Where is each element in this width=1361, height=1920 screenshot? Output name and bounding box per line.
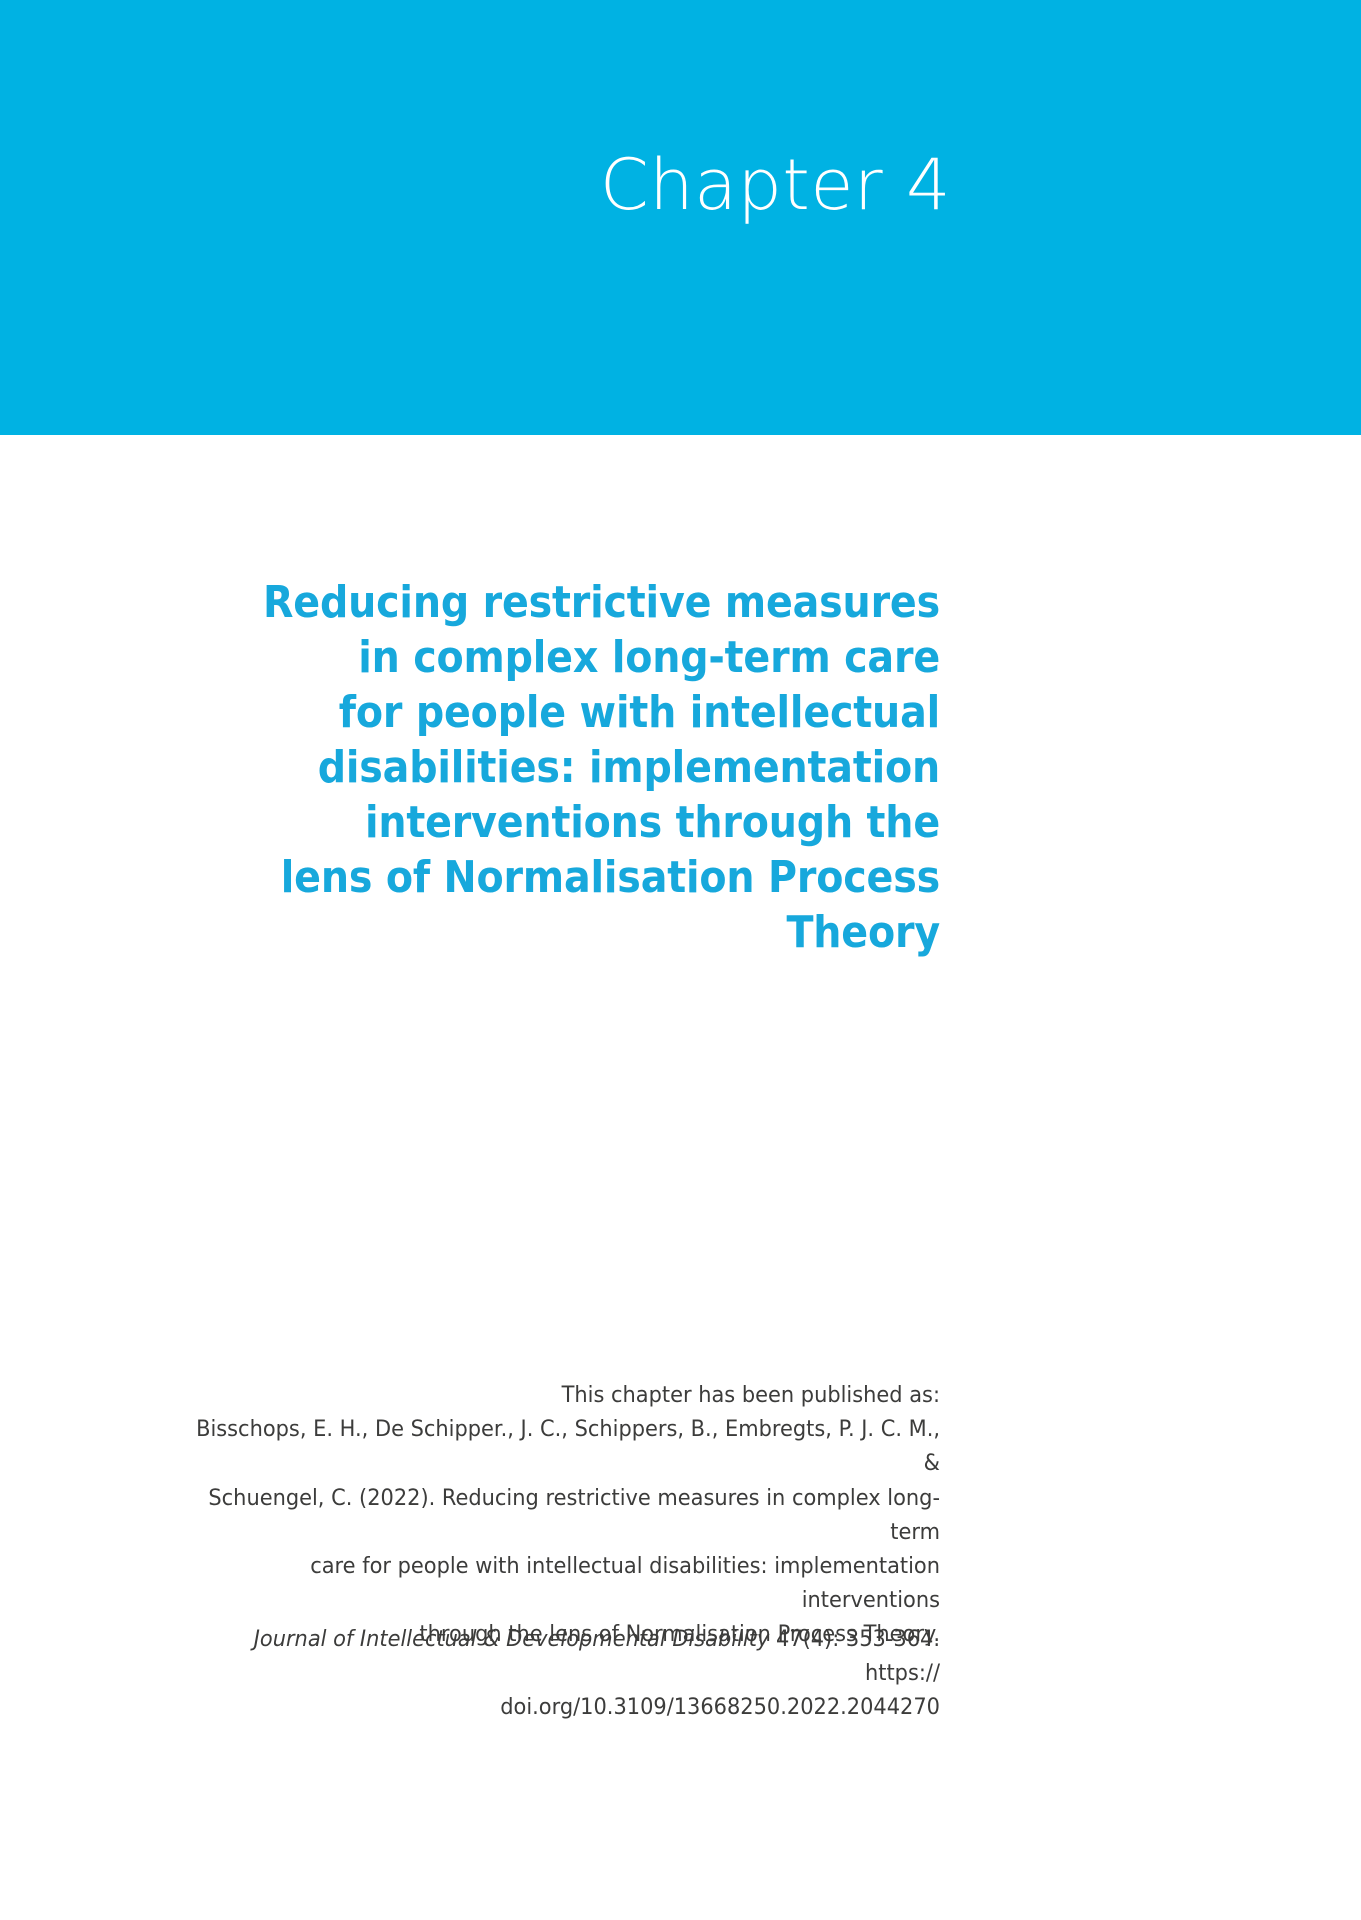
chapter-number-label: Chapter 4 — [51, 150, 951, 220]
chapter-title: Reducing restrictive measures in complex… — [180, 575, 1351, 960]
chapter-header-band: Chapter 4 — [0, 0, 1361, 435]
chapter-title-line-3: for people with intellectual — [256, 685, 940, 740]
publication-credit: This chapter has been published as: Biss… — [120, 1378, 1351, 1652]
publication-credit-line-3: Schuengel, C. (2022). Reducing restricti… — [177, 1481, 940, 1549]
chapter-title-line-7: Theory — [256, 905, 940, 960]
chapter-title-line-4: disabilities: implementation — [256, 740, 940, 795]
chapter-title-line-2: in complex long-term care — [256, 630, 940, 685]
chapter-title-line-1: Reducing restrictive measures — [256, 575, 940, 630]
chapter-title-line-5: interventions through the — [256, 795, 940, 850]
chapter-title-line-6: lens of Normalisation Process — [256, 850, 940, 905]
journal-citation-line-1: Journal of Intellectual & Developmental … — [177, 1622, 940, 1690]
publication-credit-line-1: This chapter has been published as: — [177, 1378, 940, 1412]
journal-citation: Journal of Intellectual & Developmental … — [120, 1622, 1351, 1725]
journal-doi: doi.org/10.3109/13668250.2022.2044270 — [177, 1690, 940, 1724]
publication-credit-line-2: Bisschops, E. H., De Schipper., J. C., S… — [177, 1412, 940, 1480]
publication-credit-line-4: care for people with intellectual disabi… — [177, 1549, 940, 1617]
journal-title: Journal of Intellectual & Developmental … — [254, 1626, 770, 1652]
journal-volume-pages: 47(4): 353-364. https:// — [769, 1626, 940, 1686]
